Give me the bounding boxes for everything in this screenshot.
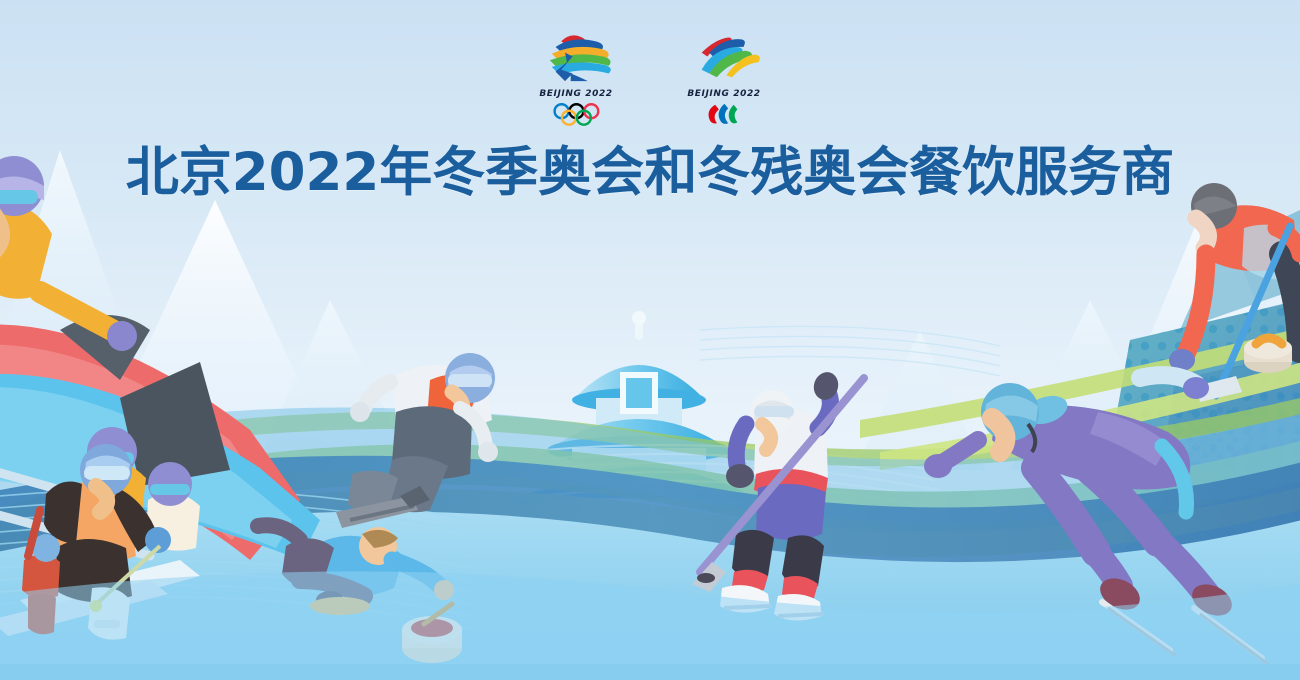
- paralympic-emblem-mark: [677, 28, 772, 83]
- beijing-2022-catering-banner: BEIJING 2022 BEIJING 2022: [0, 0, 1300, 680]
- olympic-emblem: BEIJING 2022: [526, 28, 626, 132]
- page-title: 北京2022年冬季奥会和冬残奥会餐饮服务商: [126, 144, 1175, 201]
- paralympic-emblem: BEIJING 2022: [674, 28, 774, 132]
- page-title-wrap: 北京2022年冬季奥会和冬残奥会餐饮服务商: [0, 144, 1300, 201]
- olympic-rings-icon: [530, 101, 623, 127]
- emblem-row: BEIJING 2022 BEIJING 2022: [0, 28, 1300, 132]
- olympic-emblem-wordmark: BEIJING 2022: [526, 89, 626, 99]
- paralympic-emblem-wordmark: BEIJING 2022: [674, 89, 774, 99]
- olympic-emblem-mark: [529, 28, 624, 83]
- paralympic-agitos-icon: [678, 101, 771, 127]
